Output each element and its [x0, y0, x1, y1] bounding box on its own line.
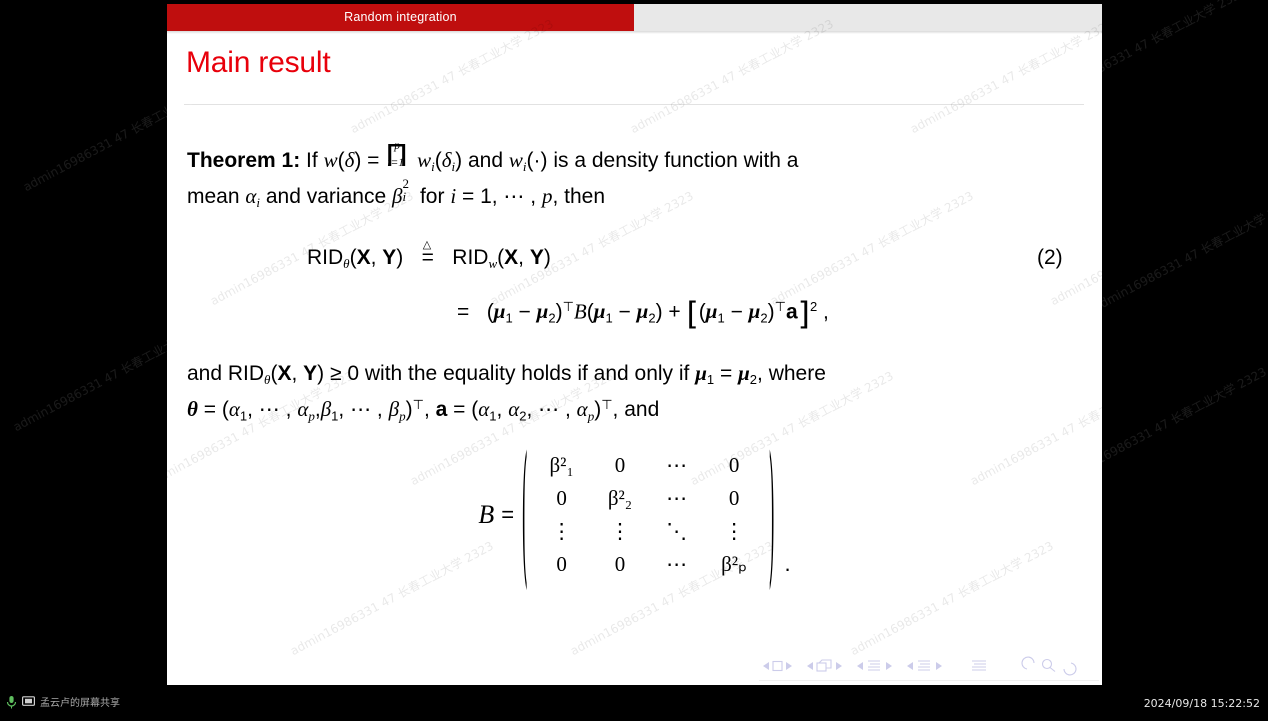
nav-slide-icon [773, 662, 782, 671]
slide-body: Theorem 1: If w(δ) = Πpi=1 wi(δi) and wi… [167, 4, 1102, 685]
para2-text-a: and RID [187, 362, 264, 385]
matrix-cell: 0 [704, 482, 764, 515]
nav-prev-frame-icon [807, 662, 813, 670]
product-operator: Πpi=1 [385, 149, 411, 170]
nav-next-frame-icon [836, 662, 842, 670]
nav-back-icon [1022, 657, 1034, 669]
matrix-cell: 0 [591, 449, 649, 482]
matrix-cell: β²₁ [533, 449, 591, 482]
nav-section-icon [918, 661, 930, 670]
matrix-cell: ⋮ [591, 515, 649, 548]
matrix-equals: = [501, 502, 514, 528]
nav-search-icon [1043, 660, 1052, 669]
screen-share-indicator[interactable]: 孟云卢的屏幕共享 [6, 694, 120, 709]
theorem-line-1: Theorem 1: If w(δ) = Πpi=1 wi(δi) and wi… [187, 148, 798, 175]
para2-text-d: , and [613, 398, 660, 421]
matrix-cell: 0 [533, 548, 591, 581]
beamer-navigation-bar[interactable] [759, 655, 1099, 679]
watermark: admin16986331 47 长春工业大学 2323 [767, 187, 976, 309]
matrix-right-paren: ) [769, 438, 775, 592]
screen: Random integration Main result Theorem 1… [0, 0, 1268, 721]
watermark: admin16986331 47 长春工业大学 2323 [627, 15, 836, 137]
matrix-period: . [784, 551, 790, 581]
matrix-cell: 0 [533, 482, 591, 515]
theorem-text-e: mean [187, 185, 240, 208]
equation-lhs: RID [307, 246, 343, 269]
theorem-text-f: and variance [266, 185, 386, 208]
equation-rhs-label: RID [452, 246, 488, 269]
matrix-cell: 0 [591, 548, 649, 581]
theorem-text-g: for [420, 185, 445, 208]
matrix-row: β²₁0⋯0 [533, 449, 765, 482]
matrix-row: 00⋯β²ₚ [533, 548, 765, 581]
matrix-row: 0β²₂⋯0 [533, 482, 765, 515]
theorem-text-a: If [306, 149, 318, 172]
watermark: admin16986331 47 长春工业大学 2323 [347, 15, 556, 137]
theorem-text-c: and [468, 149, 503, 172]
nav-toc-icon [972, 661, 986, 670]
watermark: admin16986331 47 长春工业大学 2323 [907, 15, 1102, 137]
nav-next-slide-icon [786, 662, 792, 670]
matrix-cell: ⋯ [649, 482, 704, 515]
equation-2-line-1: RIDθ(X, Y) △= RIDw(X, Y) [307, 246, 551, 272]
matrix-symbol: B [478, 500, 494, 530]
taskbar-timestamp: 2024/09/18 15:22:52 [1144, 697, 1260, 710]
theorem-text-d: is a density function with a [553, 149, 798, 172]
nav-search-handle-icon [1050, 668, 1055, 672]
paragraph-2-line-1: and RIDθ(X, Y) ≥ 0 with the equality hol… [187, 361, 826, 388]
matrix-row: ⋮⋮⋱⋮ [533, 515, 765, 548]
screen-share-label: 孟云卢的屏幕共享 [40, 694, 120, 709]
matrix-cell: β²₂ [591, 482, 649, 515]
presentation-slide: Random integration Main result Theorem 1… [167, 4, 1102, 685]
theorem-text-h: , then [552, 185, 605, 208]
watermark: admin16986331 47 长春工业大学 2323 [1090, 193, 1268, 315]
theorem-line-2: mean αi and variance β2i for i = 1, ⋯ , … [187, 184, 605, 211]
triangleq-icon: △= [421, 246, 435, 270]
nav-frame-icon [817, 660, 831, 671]
equation-number: (2) [1037, 246, 1063, 270]
matrix-body: β²₁0⋯00β²₂⋯0⋮⋮⋱⋮00⋯β²ₚ [533, 449, 765, 581]
nav-divider [759, 680, 1099, 681]
matrix-cell: β²ₚ [704, 548, 764, 581]
theorem-label: Theorem 1: [187, 149, 300, 172]
matrix-cell: 0 [704, 449, 764, 482]
monitor-icon [22, 696, 35, 708]
matrix-cell: ⋯ [649, 449, 704, 482]
matrix-cell: ⋯ [649, 548, 704, 581]
nav-next-subsection-icon [886, 662, 892, 670]
para2-text-b: with the equality holds if and only if [365, 362, 690, 385]
para2-text-c: , where [757, 362, 826, 385]
nav-prev-slide-icon [763, 662, 769, 670]
matrix-left-paren: ( [522, 438, 528, 592]
nav-prev-subsection-icon [857, 662, 863, 670]
nav-next-section-icon [936, 662, 942, 670]
equation-2-line-2: = (μ1 − μ2)⊤B(μ1 − μ2) + [(μ1 − μ2)⊤a]2 … [457, 296, 829, 332]
nav-forward-icon [1064, 663, 1076, 675]
matrix-definition: B = ( β²₁0⋯00β²₂⋯0⋮⋮⋱⋮00⋯β²ₚ ) . [167, 449, 1102, 581]
microphone-icon [6, 695, 17, 709]
matrix-cell: ⋮ [704, 515, 764, 548]
nav-prev-section-icon [907, 662, 913, 670]
nav-subsection-icon [868, 661, 880, 670]
matrix-cell: ⋱ [649, 515, 704, 548]
matrix-cell: ⋮ [533, 515, 591, 548]
taskbar: 孟云卢的屏幕共享 2024/09/18 15:22:52 [0, 688, 1268, 721]
paragraph-2-line-2: θ = (α1, ⋯ , αp,β1, ⋯ , βp)⊤, a = (α1, α… [187, 397, 659, 424]
